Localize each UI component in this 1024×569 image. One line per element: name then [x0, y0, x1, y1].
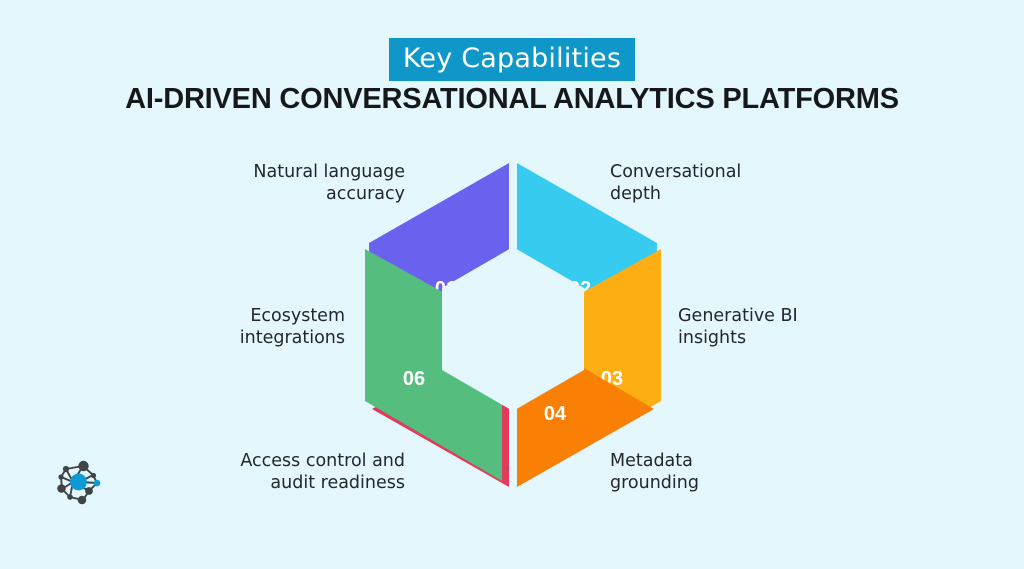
- key-capabilities-badge: Key Capabilities: [389, 38, 635, 81]
- network-graph-logo: [53, 456, 107, 510]
- hexagon-segment-03-label: Generative BI insights: [678, 305, 908, 350]
- hexagon-segment-06-label: Ecosystem integrations: [160, 305, 345, 350]
- hexagon-cycle-diagram: 01 02 03 04 05 06: [350, 155, 676, 495]
- hexagon-segment-04-number: 04: [544, 403, 567, 425]
- hexagon-segment-01-label: Natural language accuracy: [180, 161, 405, 206]
- page-title: AI-DRIVEN CONVERSATIONAL ANALYTICS PLATF…: [0, 83, 1024, 116]
- hexagon-segment-05-label: Access control and audit readiness: [170, 450, 405, 495]
- hexagon-segment-04-label: Metadata grounding: [610, 450, 850, 495]
- infographic-canvas: Key Capabilities AI-DRIVEN CONVERSATIONA…: [0, 0, 1024, 569]
- hexagon-segment-02-label: Conversational depth: [610, 161, 850, 206]
- hexagon-segment-06-number: 06: [403, 368, 425, 390]
- badge-row: Key Capabilities: [0, 38, 1024, 81]
